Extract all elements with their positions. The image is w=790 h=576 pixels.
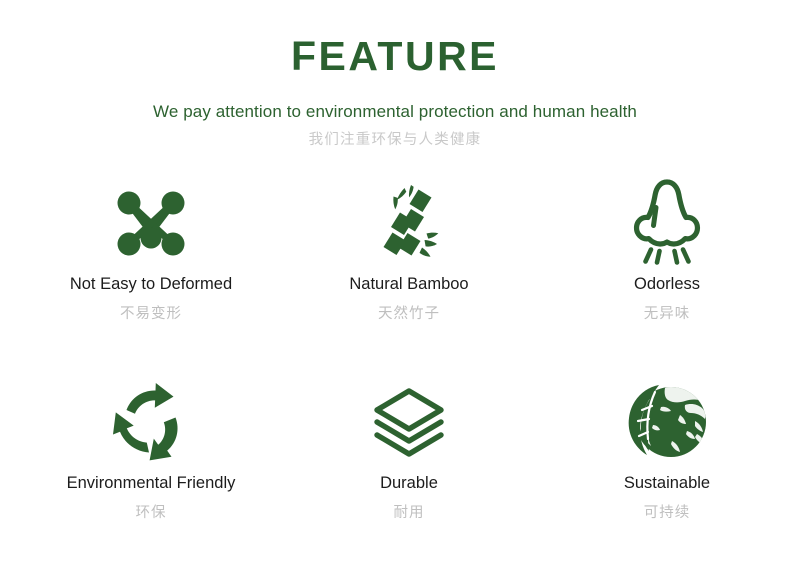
- feature-item-not-easy-to-deformed: Not Easy to Deformed 不易变形: [22, 175, 280, 372]
- feature-item-sustainable: Sustainable 可持续: [538, 372, 790, 572]
- page-title: FEATURE: [0, 36, 790, 77]
- page-subtitle-english: We pay attention to environmental protec…: [0, 102, 790, 122]
- layers-stack-icon: [371, 372, 447, 472]
- feature-label-chinese: 不易变形: [120, 306, 182, 323]
- page-header: FEATURE We pay attention to environmenta…: [0, 0, 790, 150]
- feature-grid: Not Easy to Deformed 不易变形: [0, 175, 790, 572]
- recycle-icon: [109, 372, 193, 472]
- feature-label-english: Durable: [380, 474, 438, 494]
- feature-item-durable: Durable 耐用: [280, 372, 538, 572]
- feature-label-english: Not Easy to Deformed: [70, 275, 232, 295]
- molecule-nodes-icon: [113, 175, 189, 271]
- feature-item-environmental-friendly: Environmental Friendly 环保: [22, 372, 280, 572]
- nose-icon: [631, 175, 703, 271]
- bamboo-icon: [374, 175, 444, 271]
- feature-item-natural-bamboo: Natural Bamboo 天然竹子: [280, 175, 538, 372]
- feature-label-english: Natural Bamboo: [349, 275, 468, 295]
- feature-page: FEATURE We pay attention to environmenta…: [0, 0, 790, 576]
- globe-leaf-icon: [625, 372, 709, 472]
- feature-label-chinese: 环保: [136, 505, 167, 522]
- feature-row-1: Not Easy to Deformed 不易变形: [0, 175, 790, 372]
- feature-row-2: Environmental Friendly 环保 Durable 耐用: [0, 372, 790, 572]
- feature-label-chinese: 耐用: [394, 505, 425, 522]
- feature-label-english: Sustainable: [624, 474, 710, 494]
- page-subtitle-chinese: 我们注重环保与人类健康: [0, 132, 790, 149]
- feature-item-odorless: Odorless 无异味: [538, 175, 790, 372]
- feature-label-english: Odorless: [634, 275, 700, 295]
- feature-label-english: Environmental Friendly: [67, 474, 236, 494]
- feature-label-chinese: 可持续: [644, 505, 691, 522]
- feature-label-chinese: 天然竹子: [378, 306, 440, 323]
- feature-label-chinese: 无异味: [644, 306, 691, 323]
